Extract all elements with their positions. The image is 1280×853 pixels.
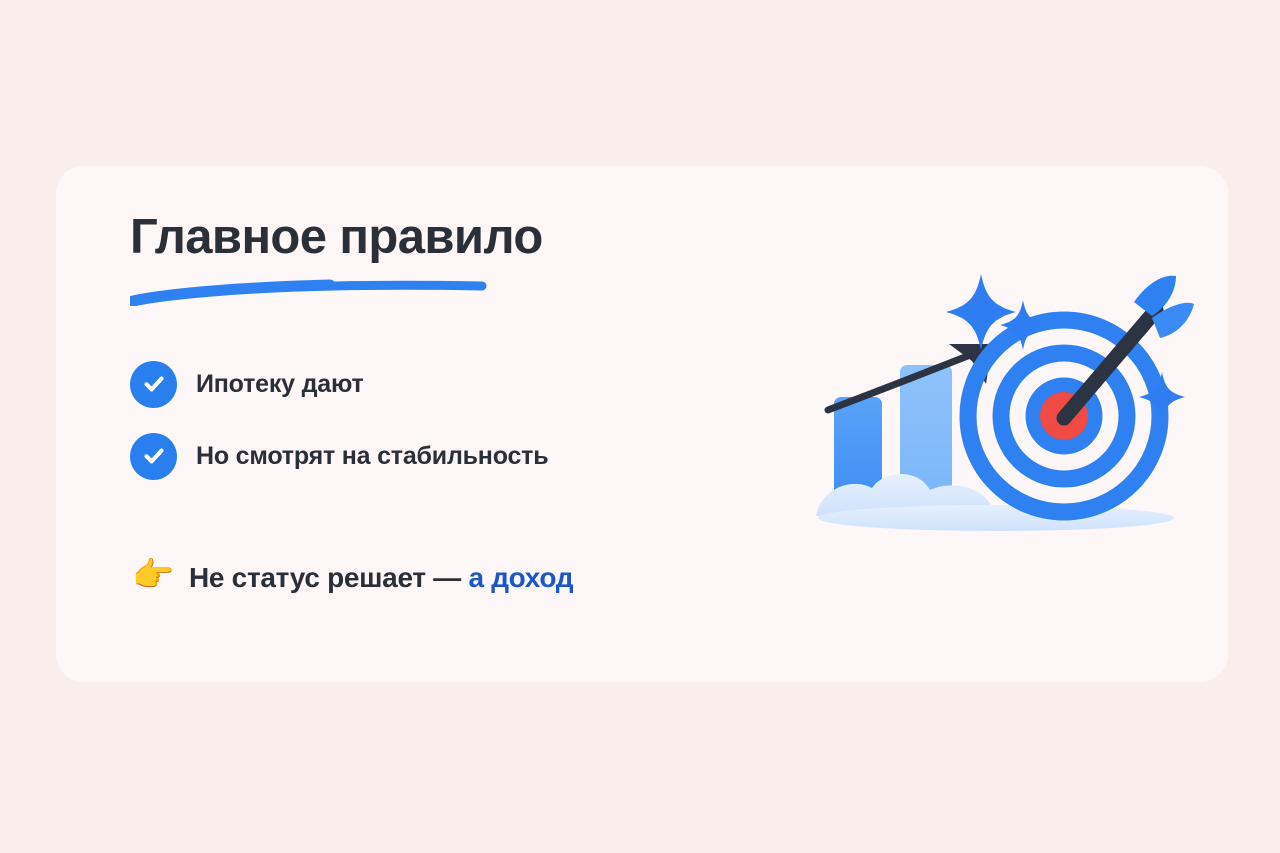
page-title: Главное правило xyxy=(130,208,543,266)
title-underline-stroke xyxy=(130,276,490,306)
page-root: Главное правило Ипотеку дают xyxy=(0,0,1280,853)
list-item: Ипотеку дают xyxy=(130,360,730,408)
punchline-text-plain: Не статус решает — xyxy=(189,562,468,593)
content-card: Главное правило Ипотеку дают xyxy=(56,166,1228,682)
list-item: Но смотрят на стабильность xyxy=(130,432,730,480)
checklist-item-label: Ипотеку дают xyxy=(196,370,364,399)
pointing-right-hand-emoji: 👉 xyxy=(132,558,176,598)
check-circle-icon xyxy=(130,361,177,408)
punchline: 👉 Не статус решает — а доход xyxy=(132,558,573,598)
checklist-item-label: Но смотрят на стабильность xyxy=(196,442,548,471)
title-block: Главное правило xyxy=(130,208,750,328)
checklist: Ипотеку дают Но смотрят на стабильность xyxy=(130,360,730,504)
check-circle-icon xyxy=(130,433,177,480)
punchline-text: Не статус решает — а доход xyxy=(189,562,573,594)
card-left-column: Главное правило Ипотеку дают xyxy=(130,208,750,328)
punchline-text-accent: а доход xyxy=(468,562,573,593)
target-illustration xyxy=(796,266,1196,556)
